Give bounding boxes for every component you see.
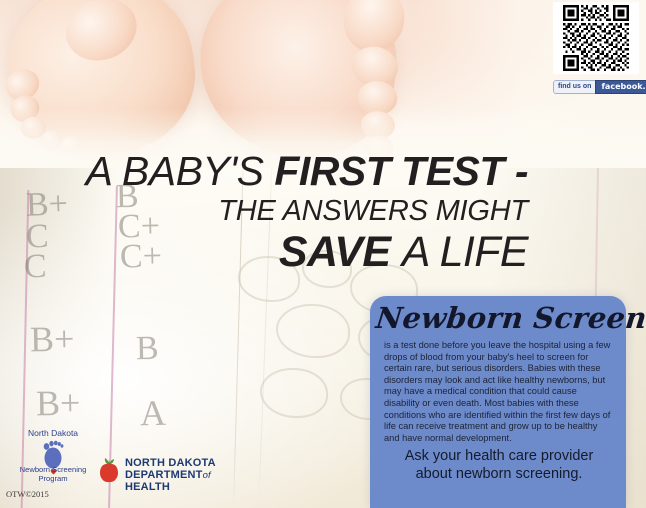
cta-line-2: about newborn screening.	[380, 466, 618, 484]
facebook-badge-prefix: find us on	[553, 80, 595, 94]
headline-line-2: THE ANSWERS MIGHT	[0, 194, 540, 228]
social-block: find us on facebook.	[551, 2, 641, 97]
doh-logo-line-2: DEPARTMENTof HEALTH	[125, 469, 238, 493]
headline: A BABY'S FIRST TEST - THE ANSWERS MIGHT …	[0, 148, 540, 276]
facebook-badge[interactable]: find us on facebook.	[553, 80, 646, 94]
newborn-screening-panel: Newborn Screening is a test done before …	[370, 296, 626, 508]
panel-body-text: is a test done before you leave the hosp…	[384, 340, 614, 444]
nbs-logo-top-text: North Dakota	[10, 428, 96, 438]
headline-line-3-bold: SAVE	[279, 228, 402, 276]
headline-line-1-plain: A BABY'S	[86, 148, 275, 194]
panel-title: Newborn Screening	[374, 298, 622, 338]
cta-line-1: Ask your health care provider	[380, 448, 618, 466]
copyright-text: OTW©2015	[6, 489, 49, 499]
nbs-logo-bottom-line2: Program	[38, 474, 67, 483]
apple-icon	[98, 457, 120, 483]
qr-code-icon	[556, 5, 636, 71]
headline-line-1: A BABY'S FIRST TEST -	[0, 148, 540, 194]
headline-line-3-plain: A LIFE	[402, 228, 528, 276]
grade-letter: B	[136, 330, 159, 368]
grade-letter: B+	[30, 318, 75, 361]
nbs-logo-bottom-text: Newborn Screening Program	[8, 466, 98, 483]
doh-logo-line-1: NORTH DAKOTA	[125, 457, 216, 469]
doh-logo-line-2-of: of	[203, 470, 211, 481]
baby-feet-photo	[0, 0, 646, 168]
poster-root: B+ C C B+ B+ B C+ C+ B A	[0, 0, 646, 508]
department-of-health-logo: NORTH DAKOTA DEPARTMENTof HEALTH	[98, 455, 238, 485]
grade-letter: B+	[36, 382, 81, 425]
qr-code[interactable]	[553, 2, 639, 74]
headline-line-3: SAVE A LIFE	[0, 228, 540, 276]
grade-letter: A	[140, 392, 167, 434]
doh-logo-line-2-c: HEALTH	[125, 481, 170, 493]
facebook-badge-label: facebook.	[595, 80, 646, 94]
panel-call-to-action: Ask your health care provider about newb…	[380, 448, 618, 483]
newborn-screening-program-logo: North Dakota Newborn Screening Program	[10, 428, 96, 484]
doh-logo-line-2-a: DEPARTMENT	[125, 469, 203, 481]
headline-line-1-bold: FIRST TEST -	[274, 148, 528, 194]
